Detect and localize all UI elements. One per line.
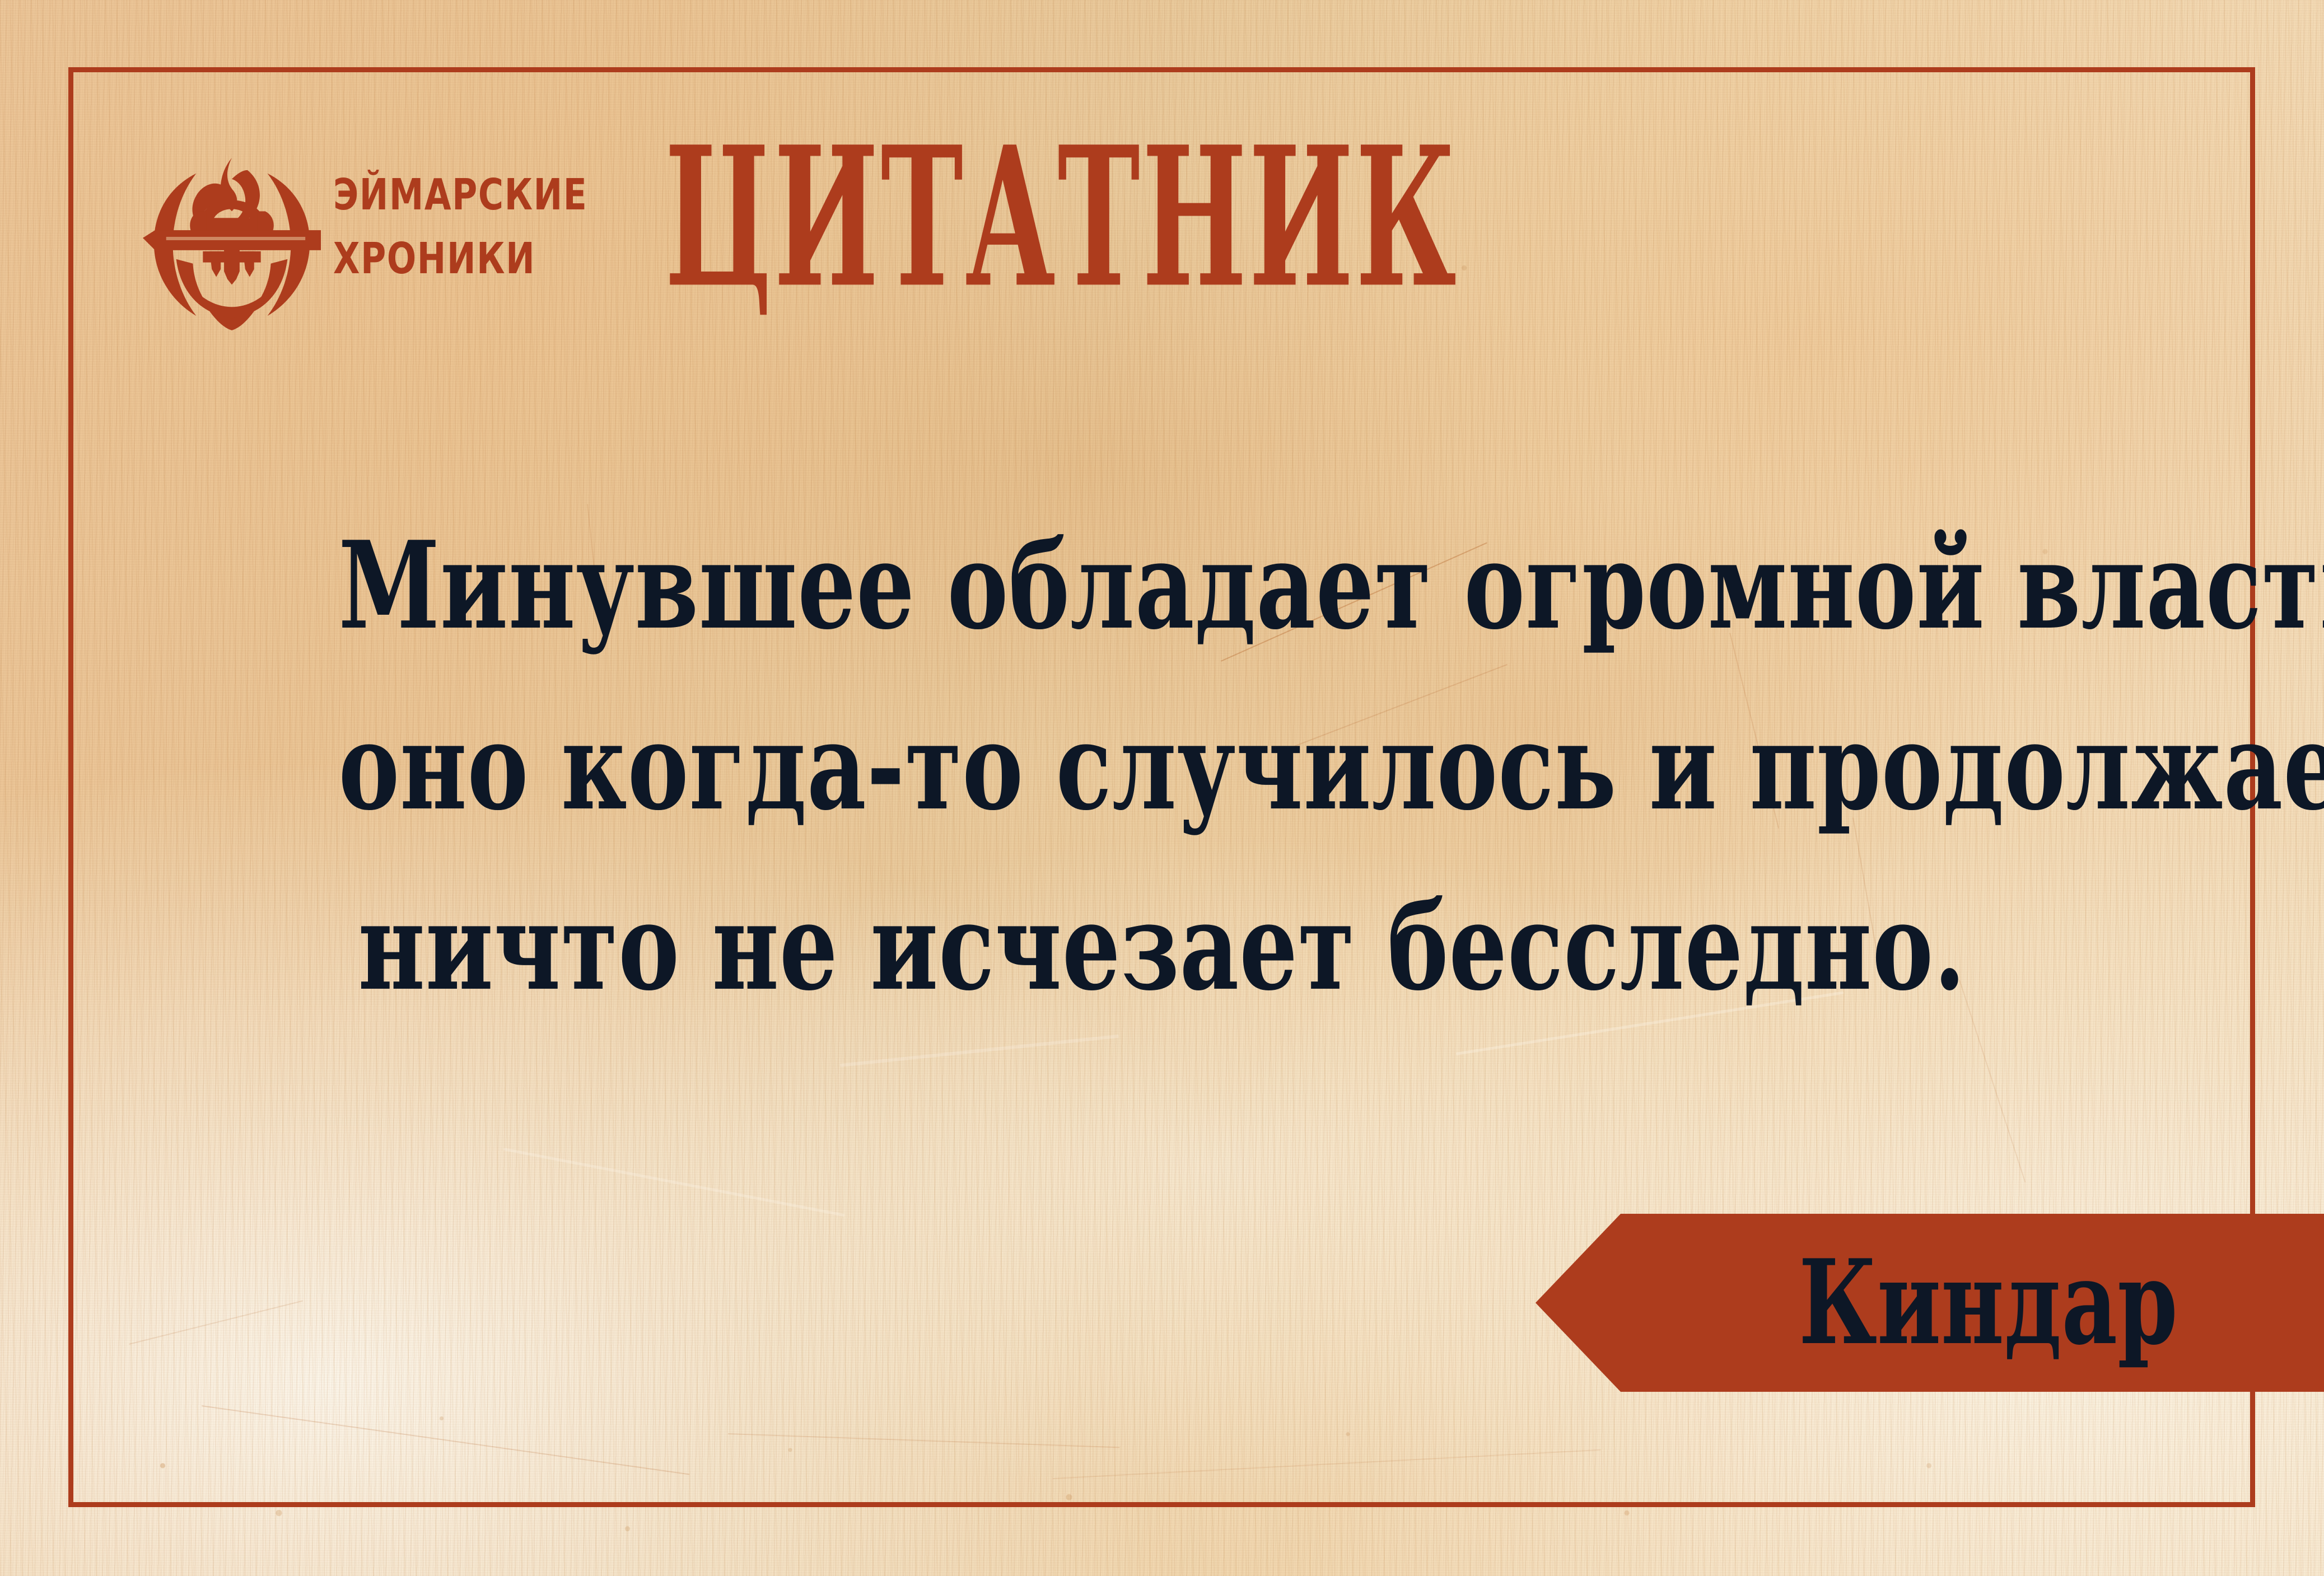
quote-line-2: оно когда-то случилось и продолжает жить… xyxy=(338,676,1985,857)
header: ЭЙМАРСКИЕ ХРОНИКИ ЦИТАТНИК xyxy=(143,148,1987,332)
brand-line-1: ЭЙМАРСКИЕ xyxy=(333,174,587,217)
brand-name: ЭЙМАРСКИЕ ХРОНИКИ xyxy=(333,174,651,280)
quote-text: Минувшее обладает огромной властью, оно … xyxy=(78,495,2246,1037)
author-name: Киндар xyxy=(1799,1245,2178,1361)
author-ribbon: Киндар xyxy=(1536,1214,2324,1392)
quote-line-3: ничто не исчезает бесследно. xyxy=(338,857,1985,1037)
eimar-chronicles-emblem-icon xyxy=(143,153,321,332)
quote-line-1: Минувшее обладает огромной властью, xyxy=(338,495,1985,676)
brand-line-2: ХРОНИКИ xyxy=(333,238,587,280)
quote-card: ЭЙМАРСКИЕ ХРОНИКИ ЦИТАТНИК Минувшее обла… xyxy=(0,0,2324,1576)
page-title: ЦИТАТНИК xyxy=(665,133,1458,302)
